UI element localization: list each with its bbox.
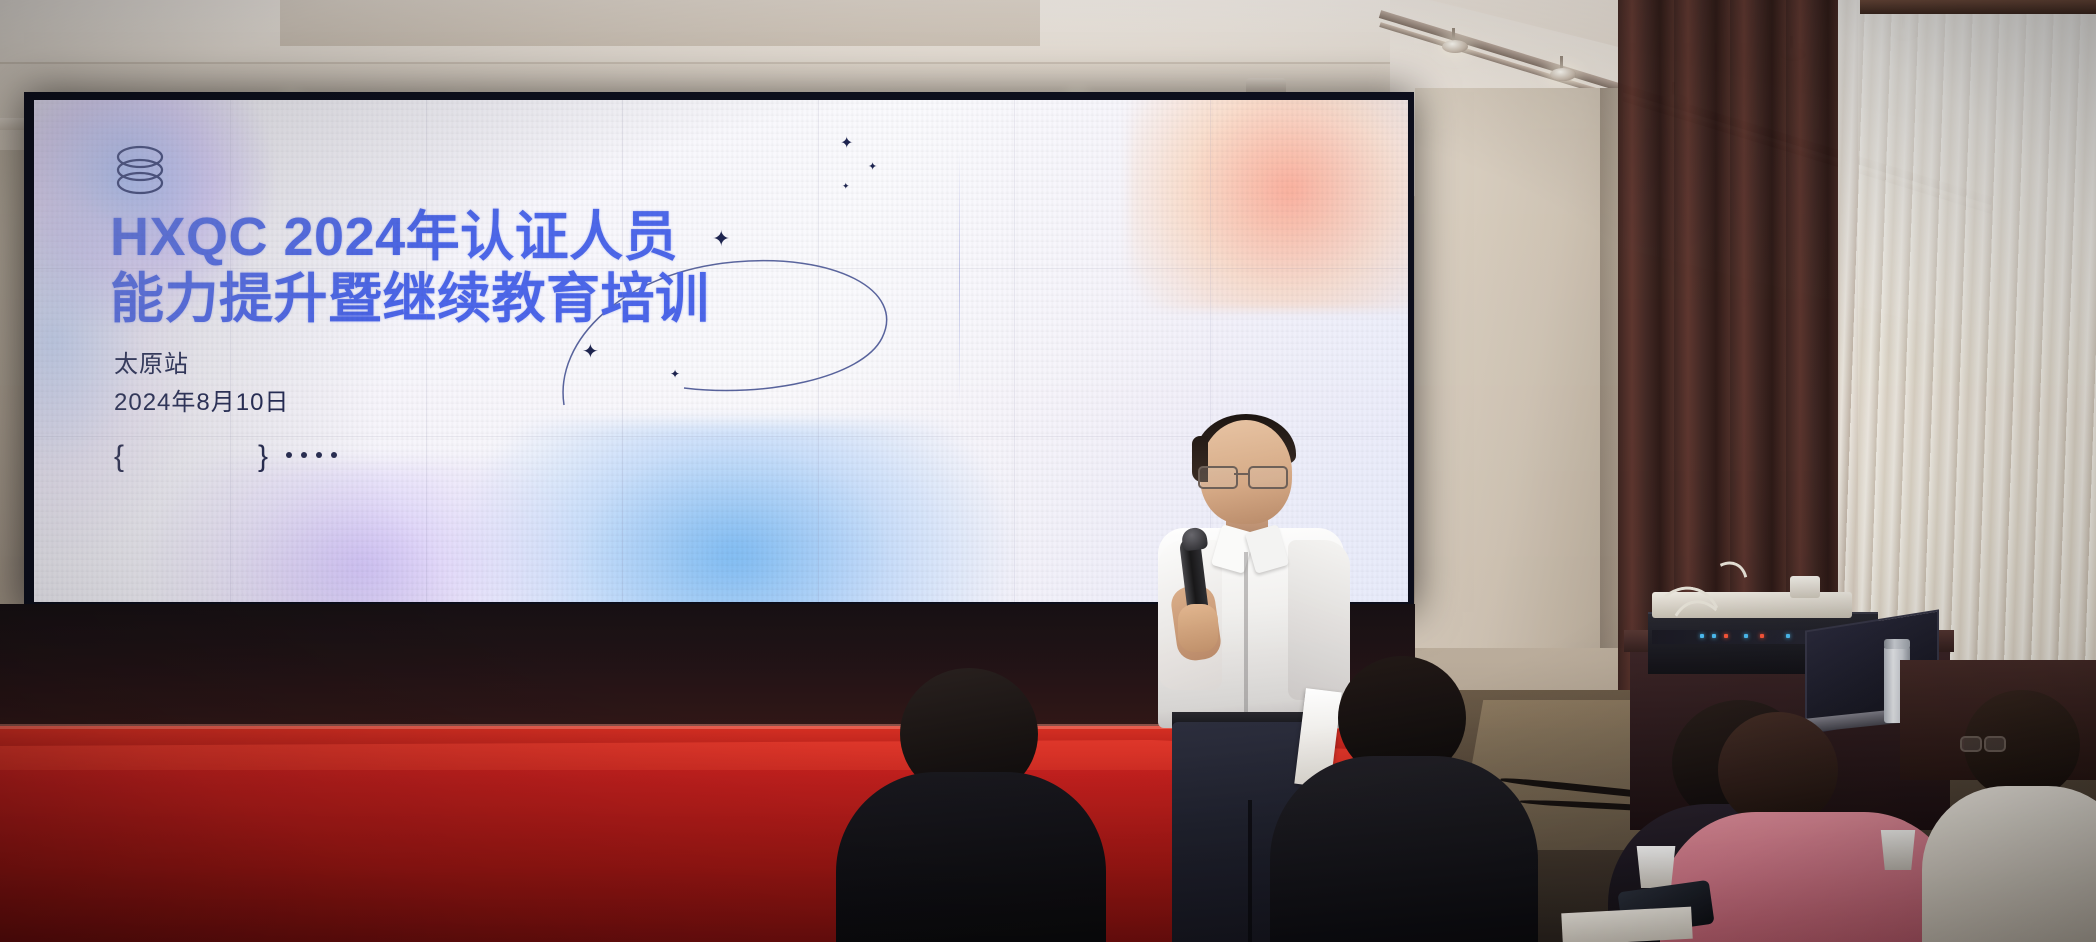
- curtain-rod: [1860, 0, 2096, 14]
- mixer-led: [1744, 634, 1748, 638]
- presenter-hand: [1178, 604, 1218, 652]
- track-light: [1442, 40, 1468, 53]
- mixer-led: [1786, 634, 1790, 638]
- attendee-body: [1270, 756, 1538, 942]
- eyeglass-lens-right: [1248, 466, 1288, 489]
- eyeglass-lens-left: [1960, 736, 1982, 752]
- ceiling-recess-inner: [280, 0, 1040, 46]
- presenter-shirt-placket: [1244, 552, 1248, 722]
- led-panel-seam: [1014, 100, 1015, 602]
- led-panel-texture: [34, 100, 1408, 602]
- eyeglass-lens-left: [1198, 466, 1238, 489]
- track-light: [1550, 68, 1576, 81]
- ceiling-recess: [0, 0, 1400, 64]
- led-panel-band: [34, 268, 1408, 269]
- attendee-eyeglasses-icon: [1960, 736, 2006, 750]
- attendee-body: [1922, 786, 2096, 942]
- eyeglass-lens-right: [1984, 736, 2006, 752]
- document-page: [1561, 907, 1692, 942]
- led-panel-seam: [1210, 100, 1211, 602]
- wall-column: [1415, 88, 1623, 648]
- presenter-right-arm: [1288, 540, 1350, 700]
- paper-cup: [1634, 846, 1678, 888]
- attendee-head: [1718, 712, 1838, 828]
- presentation-slide: ✦ ✦ ✦ ✦ ✦ ✦ HXQC 2024年认证人员 能力提升暨继续教育培训 太…: [34, 100, 1408, 602]
- mixer-led: [1760, 634, 1764, 638]
- led-panel-seam: [622, 100, 623, 602]
- presenter-trouser-seam: [1248, 800, 1252, 942]
- led-panel-seam: [230, 100, 231, 602]
- conference-photo-scene: ✦ ✦ ✦ ✦ ✦ ✦ HXQC 2024年认证人员 能力提升暨继续教育培训 太…: [0, 0, 2096, 942]
- led-panel-seam: [818, 100, 819, 602]
- sheer-curtain-daylight: [1838, 0, 2096, 690]
- eyeglass-bridge: [1234, 473, 1248, 475]
- led-panel-seam: [426, 100, 427, 602]
- vacuum-flask-cap: [1884, 639, 1910, 649]
- power-adapter: [1790, 576, 1820, 598]
- eyeglasses-icon: [1198, 466, 1294, 486]
- attendee-body: [836, 772, 1106, 942]
